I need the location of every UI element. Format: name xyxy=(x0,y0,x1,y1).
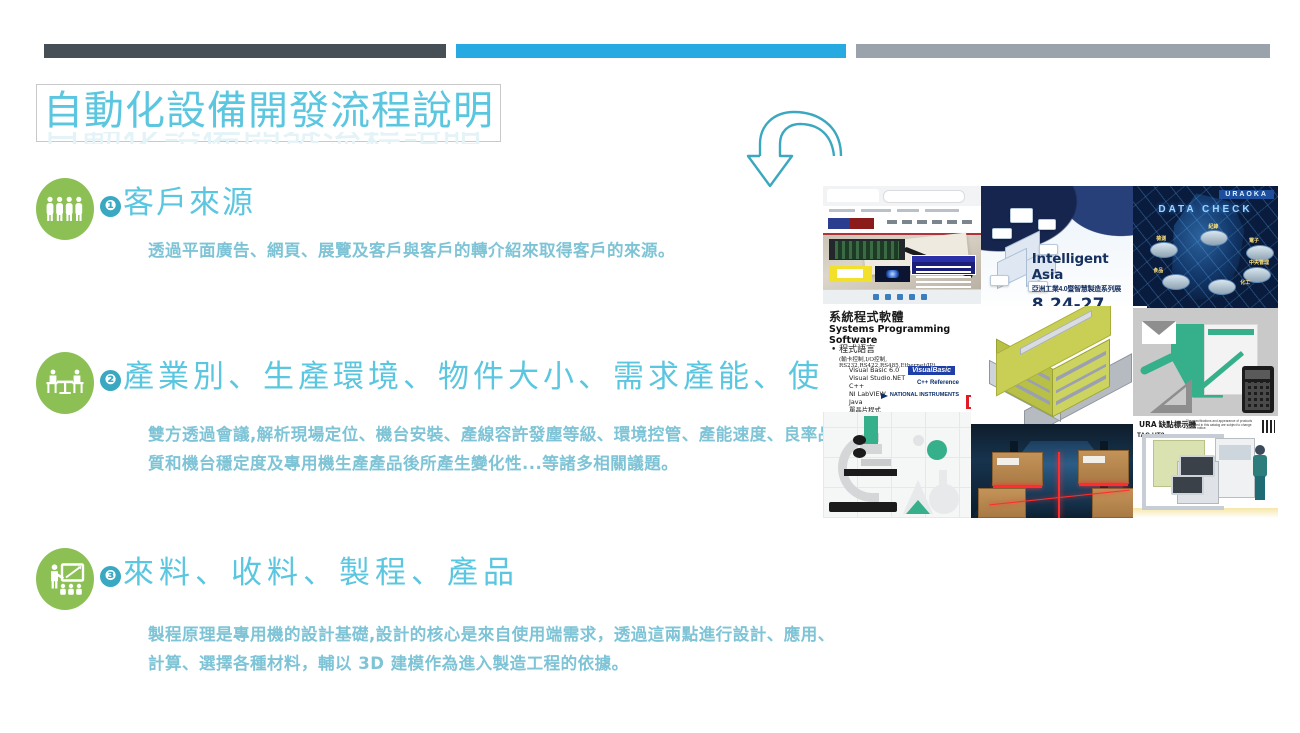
step-1-heading-row: ❶ 客戶來源 xyxy=(100,184,255,222)
node-label-central: 中央管理 xyxy=(1249,259,1269,266)
laser-line-vertical xyxy=(1058,452,1060,518)
ura-machine-tile: URA缺點標示機 TAC-UT2 The specifications and … xyxy=(1133,416,1278,518)
step-2-heading: 產業別、生產環境、物件大小、需求產能、使用 xyxy=(123,358,858,396)
yellow-thumbnail xyxy=(829,266,872,283)
machine-monitor-bottom xyxy=(1171,475,1204,495)
browser-url-bar xyxy=(883,190,965,203)
node-label-inspection: 檢測 xyxy=(1156,235,1166,242)
image-collage: Intelligent Asia 亞洲工業4.0暨智慧製造系列展 8.24-27… xyxy=(823,186,1278,518)
sys-lang-0: Visual Basic 6.0 xyxy=(849,366,905,374)
data-check-title: DATA CHECK xyxy=(1133,204,1278,215)
topbar-segment-blue xyxy=(456,44,846,58)
node-label-food: 食品 xyxy=(1153,267,1163,274)
green-circle-decoration xyxy=(927,440,947,460)
ura-note: The specifications and appearance of pro… xyxy=(1186,420,1260,431)
ura-brand-text: URA xyxy=(1139,420,1157,429)
sys-lang-1: Visual Studio.NET xyxy=(849,374,905,382)
microscope-stage xyxy=(844,469,897,475)
envelope-icon xyxy=(1142,321,1177,343)
uraoka-brand: URAOKA xyxy=(1219,190,1274,199)
intelligent-asia-poster-tile: Intelligent Asia 亞洲工業4.0暨智慧製造系列展 8.24-27… xyxy=(981,186,1133,316)
systems-programming-slide-tile: 系統程式軟體 Systems Programming Software • 程式… xyxy=(823,304,981,412)
browser-tab xyxy=(827,189,879,202)
node-label-record: 紀錄 xyxy=(1208,223,1218,230)
meeting-table-icon xyxy=(36,352,94,414)
browser-bookmarks xyxy=(823,206,981,215)
sys-language-list: Visual Basic 6.0 Visual Studio.NET C++ N… xyxy=(849,366,905,412)
page-title-shadow: 自動化設備開發流程說明 xyxy=(42,132,482,144)
topbar-segment-gray xyxy=(856,44,1270,58)
3d-machine-render-tile xyxy=(971,306,1147,428)
step-3-number: ❸ xyxy=(100,566,121,587)
step-2-body: 雙方透過會議,解析現場定位、機台安裝、產線容許發塵等級、環境控管、產能速度、良率… xyxy=(148,420,848,478)
topbar-segment-dark xyxy=(44,44,446,58)
poster-title: Intelligent Asia xyxy=(1032,251,1129,283)
round-bottom-flask xyxy=(929,484,959,514)
qr-code-icon xyxy=(1262,420,1275,433)
sys-title-zh: 系統程式軟體 xyxy=(829,308,904,325)
sys-lang-4: Java xyxy=(849,398,905,406)
step-3-body: 製程原理是專用機的設計基礎,設計的核心是來自使用端需求，透過這兩點進行設計、應用… xyxy=(148,620,848,678)
gray-circle-decoration xyxy=(913,435,924,446)
operator-figure xyxy=(1253,445,1269,502)
carton-box-left xyxy=(992,452,1043,486)
cpp-reference-label: C++ Reference xyxy=(917,380,959,386)
node-record xyxy=(1200,230,1228,246)
pcb-photo xyxy=(829,239,905,260)
machine-monitor-top xyxy=(1179,455,1215,477)
node-food xyxy=(1162,274,1190,290)
carton-box-right xyxy=(1078,450,1129,484)
browser-taskbar xyxy=(823,289,981,304)
curved-down-arrow-icon xyxy=(746,104,850,197)
marker-icon xyxy=(1139,352,1176,376)
national-instruments-logo: NATIONAL INSTRUMENTS xyxy=(890,392,959,398)
browser-screenshot-tile xyxy=(823,186,981,304)
site-hero-photo xyxy=(823,235,981,290)
browser-chrome xyxy=(823,186,981,207)
machine-cabinet xyxy=(1215,438,1255,497)
step-3-heading-row: ❸ 來料、收料、製程、產品 xyxy=(100,554,519,592)
node-label-chemical: 化工 xyxy=(1240,279,1250,286)
sys-lang-2: C++ xyxy=(849,382,905,390)
calculator-icon xyxy=(1242,366,1274,413)
sys-bullet-label: 程式語言 xyxy=(839,345,875,355)
site-logo xyxy=(828,218,874,229)
node-electronics xyxy=(1246,245,1274,261)
sys-bullet: • 程式語言 xyxy=(831,342,875,355)
step-1-heading: 客戶來源 xyxy=(123,184,255,222)
step-2-number: ❷ xyxy=(100,370,121,391)
visual-basic-logo: VisualBasic xyxy=(908,366,955,375)
microscope-lab-tile xyxy=(823,412,971,518)
info-callout xyxy=(911,255,976,276)
drafting-tools-tile xyxy=(1133,308,1278,420)
microscope-turret xyxy=(861,459,891,466)
page-title: 自動化設備開發流程說明 xyxy=(43,87,494,135)
poster-subtitle: 亞洲工業4.0暨智慧製造系列展 xyxy=(1032,284,1129,294)
step-3-heading: 來料、收料、製程、產品 xyxy=(123,554,519,592)
blue-thumbnail xyxy=(875,266,910,283)
conveyor-belt-tile xyxy=(971,424,1147,518)
step-1-body: 透過平面廣告、網頁、展覽及客戶與客戶的轉介紹來取得客戶的來源。 xyxy=(148,236,848,265)
site-nav-menu xyxy=(887,220,977,224)
step-1-number: ❶ xyxy=(100,196,121,217)
step-2-heading-row: ❷ 產業別、生產環境、物件大小、需求產能、使用 xyxy=(100,358,858,396)
microscope-base xyxy=(829,502,897,512)
presentation-teacher-icon xyxy=(36,548,94,610)
top-decorative-bar xyxy=(0,44,1300,58)
set-square-icon xyxy=(1150,379,1192,413)
group-of-people-icon xyxy=(36,178,94,240)
node-label-electronics: 電子 xyxy=(1249,237,1259,244)
data-check-tile: URAOKA DATA CHECK 紀錄 電子 檢測 中央管理 食品 化工 xyxy=(1133,186,1278,308)
microscope-eyepiece-2 xyxy=(853,448,866,458)
site-header xyxy=(823,215,981,233)
node-chemical xyxy=(1208,279,1236,295)
microscope-eyepiece-1 xyxy=(853,435,866,445)
